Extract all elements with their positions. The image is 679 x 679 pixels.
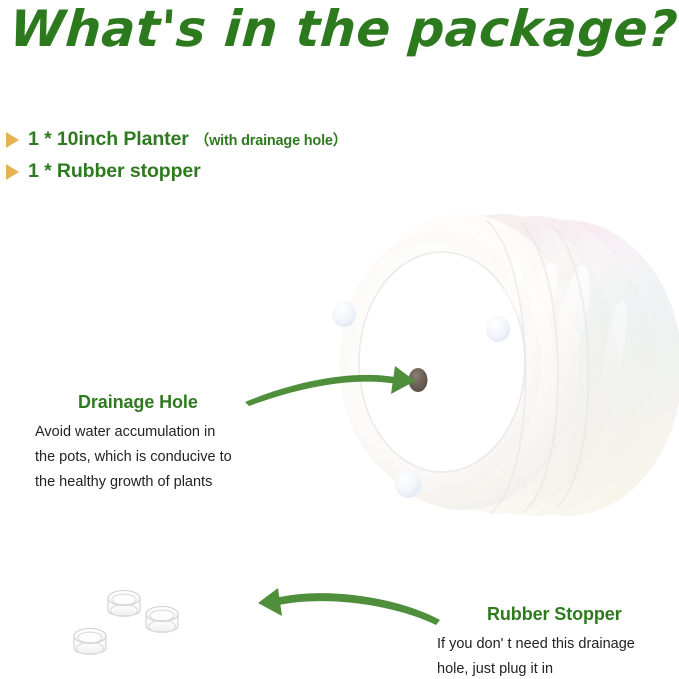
list-item: 1 * 10inch Planter （with drainage hole）: [6, 128, 486, 160]
package-list: 1 * 10inch Planter （with drainage hole） …: [6, 128, 486, 192]
rubber-stopper: [74, 629, 106, 655]
callout-line: the healthy growth of plants: [35, 470, 232, 495]
infographic-page: What's in the package? 1 * 10inch Plante…: [0, 0, 679, 679]
callout-line: the pots, which is conducive to: [35, 445, 232, 470]
planter-foot-pad: [486, 316, 510, 342]
list-item: 1 * Rubber stopper: [6, 160, 486, 192]
rubber-stopper: [108, 591, 140, 617]
list-item-label: 1 * Rubber stopper: [28, 160, 201, 183]
callout-drainage-hole: Drainage Hole Avoid water accumulation i…: [35, 392, 232, 495]
callout-heading: Drainage Hole: [35, 392, 232, 413]
triangle-right-icon: [6, 164, 19, 180]
page-title: What's in the package?: [8, 0, 652, 60]
rubber-stopper: [146, 607, 178, 633]
planter-foot-pad: [395, 470, 421, 498]
curved-arrow-left-icon: [232, 582, 442, 634]
callout-rubber-stopper: Rubber Stopper If you don' t need this d…: [437, 604, 635, 679]
callout-line: If you don' t need this drainage: [437, 632, 635, 657]
list-item-note: （with drainage hole）: [195, 129, 347, 150]
curved-arrow-right-icon: [243, 352, 443, 414]
callout-line: hole, just plug it in: [437, 657, 635, 679]
list-item-label: 1 * 10inch Planter: [28, 128, 189, 151]
triangle-right-icon: [6, 132, 19, 148]
stopper-group: [74, 591, 178, 655]
callout-heading: Rubber Stopper: [437, 604, 635, 625]
planter-foot-pad: [332, 301, 356, 327]
callout-line: Avoid water accumulation in: [35, 420, 232, 445]
rubber-stoppers-image: [66, 574, 206, 670]
